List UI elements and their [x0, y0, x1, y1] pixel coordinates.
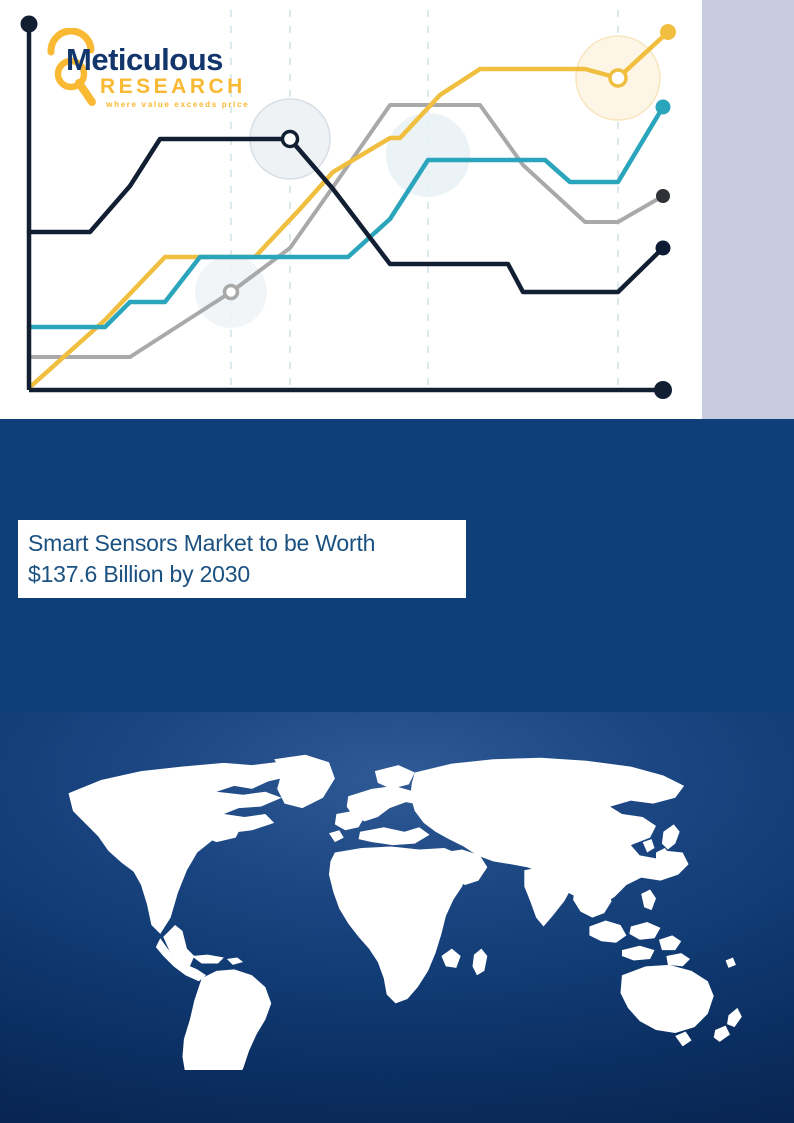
brand-logo[interactable]: Meticulous RESEARCH where value exceeds … — [44, 28, 274, 114]
headline-line-1: Smart Sensors Market to be Worth — [28, 528, 466, 559]
headline-band: Smart Sensors Market to be Worth $137.6 … — [0, 419, 794, 712]
world-map-landmasses — [69, 755, 742, 1070]
poster-page: Meticulous RESEARCH where value exceeds … — [0, 0, 794, 1123]
logo-artwork: Meticulous RESEARCH where value exceeds … — [44, 28, 274, 114]
headline-box: Smart Sensors Market to be Worth $137.6 … — [18, 520, 466, 598]
series-gray — [29, 105, 663, 357]
chart-sidebar-panel — [702, 0, 794, 419]
world-map-band — [0, 712, 794, 1123]
logo-secondary-word: RESEARCH — [100, 75, 246, 98]
headline-line-2: $137.6 Billion by 2030 — [28, 559, 466, 590]
chart-band: Meticulous RESEARCH where value exceeds … — [0, 0, 794, 419]
logo-tagline: where value exceeds price — [105, 100, 249, 109]
world-map — [30, 740, 770, 1070]
logo-primary-word: Meticulous — [66, 42, 223, 77]
